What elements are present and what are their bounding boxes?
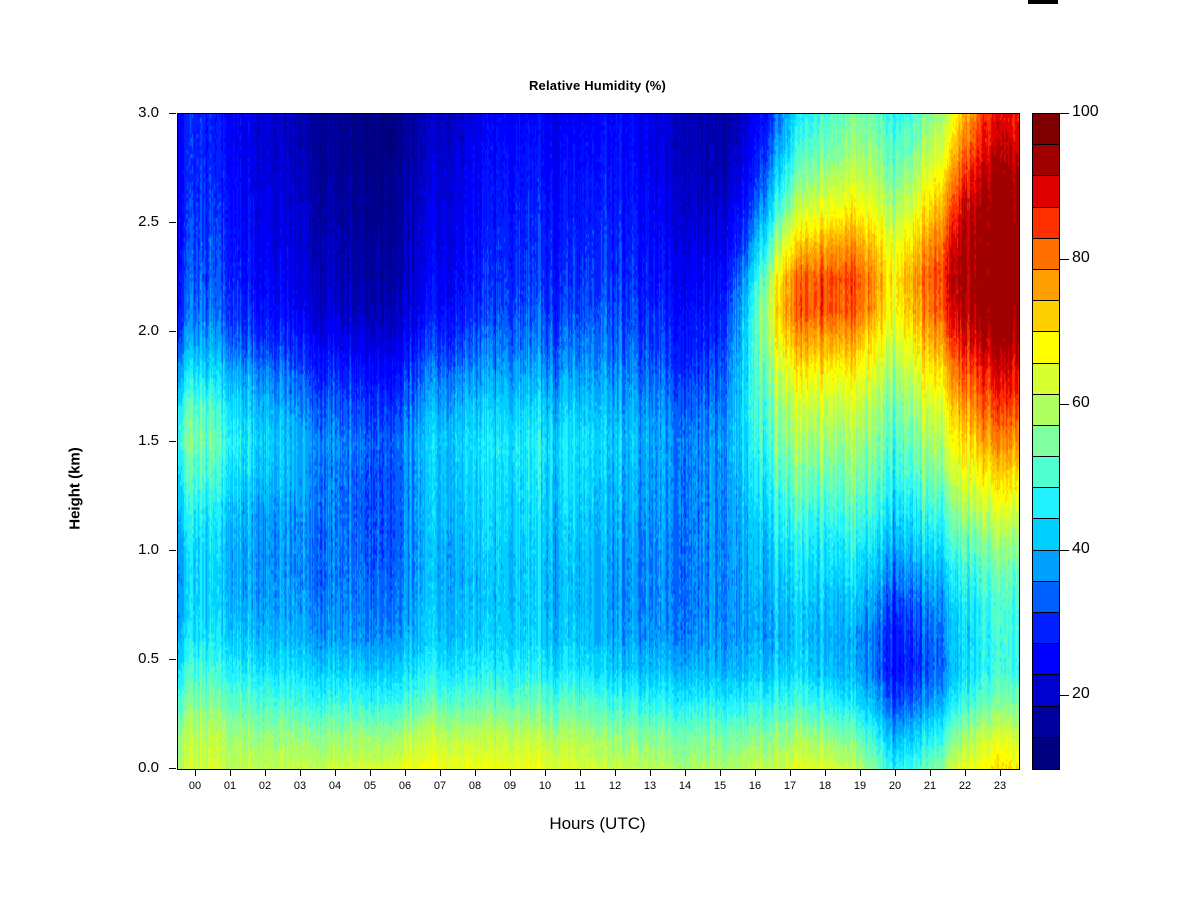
colorbar-band bbox=[1033, 488, 1059, 519]
colorbar-band bbox=[1033, 582, 1059, 613]
x-axis-tick bbox=[965, 769, 966, 776]
x-axis-tick-label: 21 bbox=[910, 780, 950, 792]
x-axis-tick bbox=[265, 769, 266, 776]
x-axis-tick-label: 22 bbox=[945, 780, 985, 792]
x-axis-tick-label: 03 bbox=[280, 780, 320, 792]
x-axis-tick-label: 13 bbox=[630, 780, 670, 792]
y-axis-tick bbox=[169, 222, 176, 223]
colorbar-tick bbox=[1060, 404, 1069, 405]
x-axis-tick bbox=[545, 769, 546, 776]
x-axis-tick bbox=[580, 769, 581, 776]
colorbar-band bbox=[1033, 114, 1059, 145]
x-axis-tick bbox=[440, 769, 441, 776]
x-axis-tick-label: 16 bbox=[735, 780, 775, 792]
x-axis-tick-label: 12 bbox=[595, 780, 635, 792]
x-axis-tick-label: 11 bbox=[560, 780, 600, 792]
heatmap-canvas bbox=[178, 114, 1019, 769]
y-axis-title: Height (km) bbox=[67, 409, 84, 569]
colorbar-tick-label: 80 bbox=[1072, 249, 1090, 267]
x-axis-tick bbox=[930, 769, 931, 776]
colorbar-band bbox=[1033, 332, 1059, 363]
colorbar-band bbox=[1033, 145, 1059, 176]
x-axis-tick bbox=[195, 769, 196, 776]
colorbar-band bbox=[1033, 675, 1059, 706]
x-axis-tick-label: 19 bbox=[840, 780, 880, 792]
x-axis-tick-label: 07 bbox=[420, 780, 460, 792]
y-axis-tick-label: 2.5 bbox=[99, 213, 159, 230]
y-axis-tick bbox=[169, 441, 176, 442]
y-axis-tick-label: 2.0 bbox=[99, 322, 159, 339]
y-axis-tick bbox=[169, 659, 176, 660]
colorbar-band bbox=[1033, 395, 1059, 426]
x-axis-tick bbox=[405, 769, 406, 776]
x-axis-tick bbox=[860, 769, 861, 776]
x-axis-tick bbox=[475, 769, 476, 776]
x-axis-tick-label: 20 bbox=[875, 780, 915, 792]
colorbar-band bbox=[1033, 613, 1059, 644]
x-axis-tick bbox=[615, 769, 616, 776]
x-axis-tick-label: 06 bbox=[385, 780, 425, 792]
x-axis-tick-label: 14 bbox=[665, 780, 705, 792]
x-axis-tick-label: 15 bbox=[700, 780, 740, 792]
y-axis-tick bbox=[169, 113, 176, 114]
x-axis-tick-label: 05 bbox=[350, 780, 390, 792]
x-axis-tick bbox=[1000, 769, 1001, 776]
x-axis-tick-label: 09 bbox=[490, 780, 530, 792]
x-axis-title: Hours (UTC) bbox=[177, 814, 1018, 834]
x-axis-tick-label: 08 bbox=[455, 780, 495, 792]
x-axis-tick-label: 00 bbox=[175, 780, 215, 792]
colorbar bbox=[1032, 113, 1060, 770]
colorbar-band bbox=[1033, 426, 1059, 457]
colorbar-tick-label: 60 bbox=[1072, 394, 1090, 412]
x-axis-tick-label: 02 bbox=[245, 780, 285, 792]
x-axis-tick-label: 01 bbox=[210, 780, 250, 792]
page-title: Relative Humidity (%) bbox=[177, 78, 1018, 93]
y-axis-tick-label: 1.5 bbox=[99, 432, 159, 449]
colorbar-tick-label: 20 bbox=[1072, 685, 1090, 703]
y-axis-tick-label: 1.0 bbox=[99, 541, 159, 558]
y-axis-tick-label: 3.0 bbox=[99, 104, 159, 121]
x-axis-tick bbox=[825, 769, 826, 776]
relative-humidity-time-height-figure: Relative Humidity (%) 0.00.51.01.52.02.5… bbox=[0, 0, 1200, 900]
x-axis-tick bbox=[230, 769, 231, 776]
y-axis-tick-label: 0.5 bbox=[99, 650, 159, 667]
colorbar-tick bbox=[1060, 113, 1069, 114]
x-axis-tick bbox=[510, 769, 511, 776]
colorbar-tick-label: 100 bbox=[1072, 103, 1099, 121]
colorbar-band bbox=[1033, 270, 1059, 301]
colorbar-band bbox=[1033, 519, 1059, 550]
x-axis-tick-label: 04 bbox=[315, 780, 355, 792]
colorbar-band bbox=[1033, 301, 1059, 332]
x-axis-tick-label: 17 bbox=[770, 780, 810, 792]
colorbar-band bbox=[1033, 738, 1059, 769]
colorbar-band bbox=[1033, 176, 1059, 207]
x-axis-tick bbox=[755, 769, 756, 776]
colorbar-band bbox=[1033, 239, 1059, 270]
x-axis-tick-label: 23 bbox=[980, 780, 1020, 792]
x-axis-tick bbox=[895, 769, 896, 776]
colorbar-band bbox=[1033, 208, 1059, 239]
x-axis-tick bbox=[650, 769, 651, 776]
colorbar-tick bbox=[1060, 550, 1069, 551]
colorbar-band bbox=[1033, 551, 1059, 582]
colorbar-band bbox=[1033, 707, 1059, 738]
colorbar-band bbox=[1033, 644, 1059, 675]
top-edge-artifact bbox=[1028, 0, 1058, 4]
colorbar-tick bbox=[1060, 259, 1069, 260]
x-axis-tick bbox=[300, 769, 301, 776]
colorbar-band bbox=[1033, 364, 1059, 395]
y-axis-tick bbox=[169, 331, 176, 332]
x-axis-tick bbox=[720, 769, 721, 776]
x-axis-tick bbox=[370, 769, 371, 776]
x-axis-tick bbox=[790, 769, 791, 776]
y-axis-tick bbox=[169, 768, 176, 769]
y-axis-tick-label: 0.0 bbox=[99, 759, 159, 776]
x-axis-tick bbox=[335, 769, 336, 776]
colorbar-band bbox=[1033, 457, 1059, 488]
x-axis-tick-label: 10 bbox=[525, 780, 565, 792]
colorbar-tick-label: 40 bbox=[1072, 540, 1090, 558]
x-axis-tick-label: 18 bbox=[805, 780, 845, 792]
heatmap-plot-area bbox=[177, 113, 1020, 770]
y-axis-tick bbox=[169, 550, 176, 551]
colorbar-tick bbox=[1060, 695, 1069, 696]
x-axis-tick bbox=[685, 769, 686, 776]
